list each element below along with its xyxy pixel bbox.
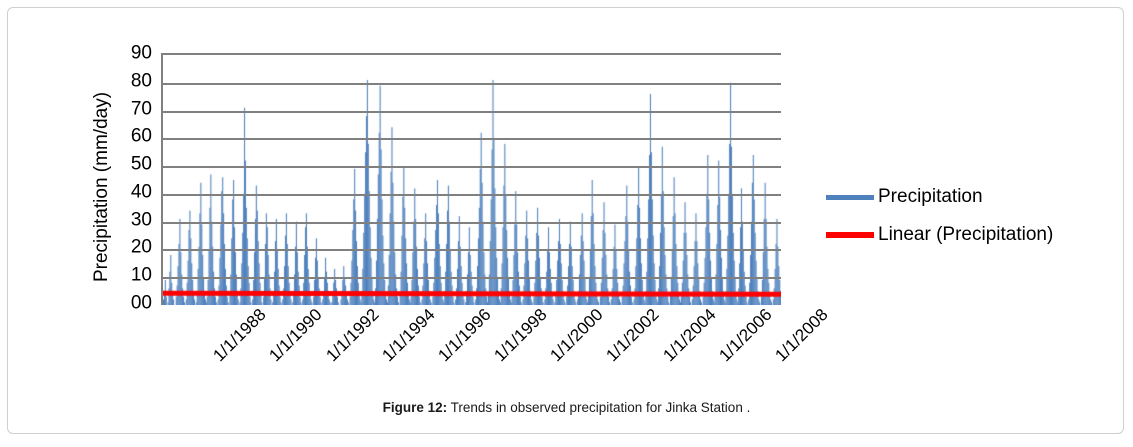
y-axis-tick-70: 70 [96,99,152,118]
x-axis-tick-1-1-1990: 1/1/1990 [266,305,327,366]
legend-label-linear-precipitation: Linear (Precipitation) [878,224,1053,246]
chart: Precipitation (mm/day) 00102030405060708… [0,0,1133,392]
y-axis-tick-90: 90 [96,44,152,63]
gridline-10 [163,277,781,279]
gridline-20 [163,249,781,251]
y-axis-tick-labels: 00102030405060708090 [96,53,152,303]
x-axis-tick-1-1-2006: 1/1/2006 [715,305,776,366]
gridline-50 [163,166,781,168]
figure-container: Precipitation (mm/day) 00102030405060708… [0,0,1133,447]
gridline-60 [163,138,781,140]
y-axis-tick-50: 50 [96,155,152,174]
y-axis-tick-40: 40 [96,182,152,201]
legend-label-precipitation: Precipitation [878,186,983,208]
figure-caption-text: Trends in observed precipitation for Jin… [451,400,751,415]
x-axis-tick-1-1-2002: 1/1/2002 [603,305,664,366]
gridline-70 [163,111,781,113]
x-axis-tick-1-1-1998: 1/1/1998 [490,305,551,366]
x-axis-tick-1-1-1992: 1/1/1992 [322,305,383,366]
legend-item-linear-precipitation[interactable]: Linear (Precipitation) [826,216,1106,254]
y-axis-tick-10: 10 [96,266,152,285]
figure-caption: Figure 12: Trends in observed precipitat… [0,400,1133,415]
plot-area [161,53,781,305]
y-axis-tick-0: 00 [96,294,152,313]
x-axis-tick-1-1-2004: 1/1/2004 [659,305,720,366]
legend-swatch-linear-precipitation [826,232,874,238]
chart-legend: Precipitation Linear (Precipitation) [826,178,1106,254]
gridline-30 [163,222,781,224]
x-axis-tick-1-1-1996: 1/1/1996 [434,305,495,366]
y-axis-tick-60: 60 [96,127,152,146]
figure-caption-label: Figure 12: [383,400,448,415]
x-axis-tick-1-1-1994: 1/1/1994 [378,305,439,366]
y-axis-tick-30: 30 [96,210,152,229]
gridline-80 [163,83,781,85]
linear-trendline [163,55,781,305]
legend-item-precipitation[interactable]: Precipitation [826,178,1106,216]
x-axis-tick-1-1-2008: 1/1/2008 [771,305,832,366]
x-axis-tick-labels: 1/1/19881/1/19901/1/19921/1/19941/1/1996… [161,305,779,391]
x-axis-tick-1-1-1988: 1/1/1988 [210,305,271,366]
legend-swatch-precipitation [826,195,874,200]
y-axis-tick-20: 20 [96,238,152,257]
gridline-40 [163,194,781,196]
x-axis-tick-1-1-2000: 1/1/2000 [547,305,608,366]
y-axis-tick-80: 80 [96,71,152,90]
